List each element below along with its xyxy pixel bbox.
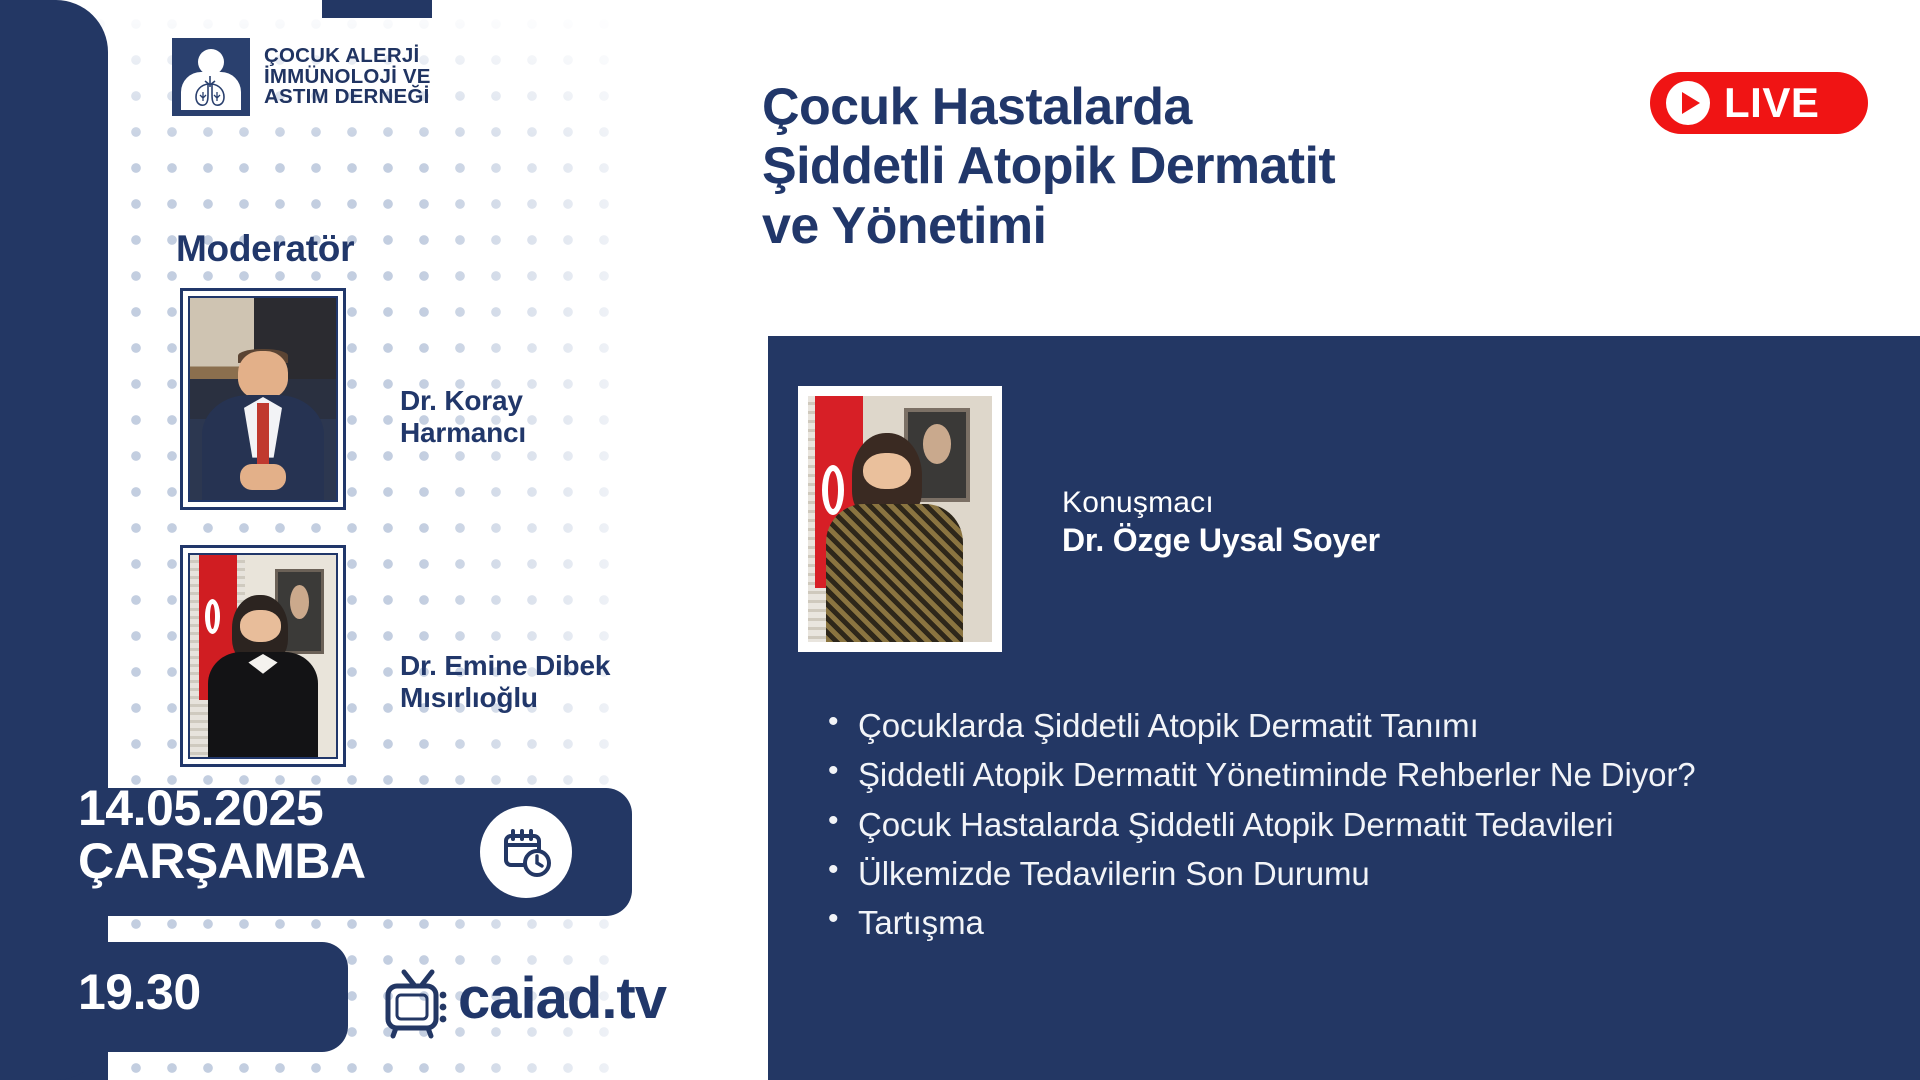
event-date: 14.05.2025 ÇARŞAMBA — [78, 782, 366, 888]
event-date-value: 14.05.2025 — [78, 782, 366, 835]
topic-item: Tartışma — [824, 903, 1864, 943]
speaker-role: Konuşmacı — [1062, 486, 1214, 520]
tv-icon — [382, 966, 458, 1042]
topic-item: Çocuklarda Şiddetli Atopik Dermatit Tanı… — [824, 706, 1864, 746]
logo-line-3: ASTIM DERNEĞİ — [264, 87, 431, 108]
speaker-name: Dr. Özge Uysal Soyer — [1062, 522, 1380, 559]
moderator-photo-1 — [180, 288, 346, 510]
moderator-photo-2 — [180, 545, 346, 767]
lungs-glyph — [191, 74, 231, 108]
title-line-1: Çocuk Hastalarda — [762, 78, 1622, 137]
topic-item: Çocuk Hastalarda Şiddetli Atopik Dermati… — [824, 805, 1864, 845]
moderator-name-2: Dr. Emine Dibek Mısırlıoğlu — [400, 650, 700, 713]
moderator-name-1-line-1: Dr. Koray — [400, 385, 680, 417]
moderator-name-1: Dr. Koray Harmancı — [400, 385, 680, 448]
event-day-value: ÇARŞAMBA — [78, 835, 366, 888]
live-badge[interactable]: LIVE — [1650, 72, 1868, 134]
person-lungs-icon — [172, 38, 250, 116]
association-logo: ÇOCUK ALERJİ İMMÜNOLOJİ VE ASTIM DERNEĞİ — [172, 38, 431, 116]
speaker-photo — [798, 386, 1002, 652]
event-time: 19.30 — [78, 963, 201, 1021]
moderator-label: Moderatör — [176, 228, 354, 270]
logo-line-2: İMMÜNOLOJİ VE — [264, 67, 431, 88]
title-line-2: Şiddetli Atopik Dermatit — [762, 137, 1622, 196]
moderator-name-2-line-1: Dr. Emine Dibek — [400, 650, 700, 682]
topic-list: Çocuklarda Şiddetli Atopik Dermatit Tanı… — [824, 706, 1864, 952]
left-accent-bar — [0, 0, 108, 1080]
top-accent-tab — [322, 0, 432, 18]
moderator-name-1-line-2: Harmancı — [400, 417, 680, 449]
logo-line-1: ÇOCUK ALERJİ — [264, 46, 431, 67]
page-title: Çocuk Hastalarda Şiddetli Atopik Dermati… — [762, 78, 1622, 256]
topic-item: Ülkemizde Tedavilerin Son Durumu — [824, 854, 1864, 894]
play-circle-icon — [1666, 81, 1710, 125]
topic-item: Şiddetli Atopik Dermatit Yönetiminde Reh… — [824, 755, 1864, 795]
live-label: LIVE — [1724, 79, 1819, 127]
calendar-clock-icon — [480, 806, 572, 898]
title-line-3: ve Yönetimi — [762, 197, 1622, 256]
channel-label[interactable]: caiad.tv — [458, 965, 666, 1032]
moderator-name-2-line-2: Mısırlıoğlu — [400, 682, 700, 714]
